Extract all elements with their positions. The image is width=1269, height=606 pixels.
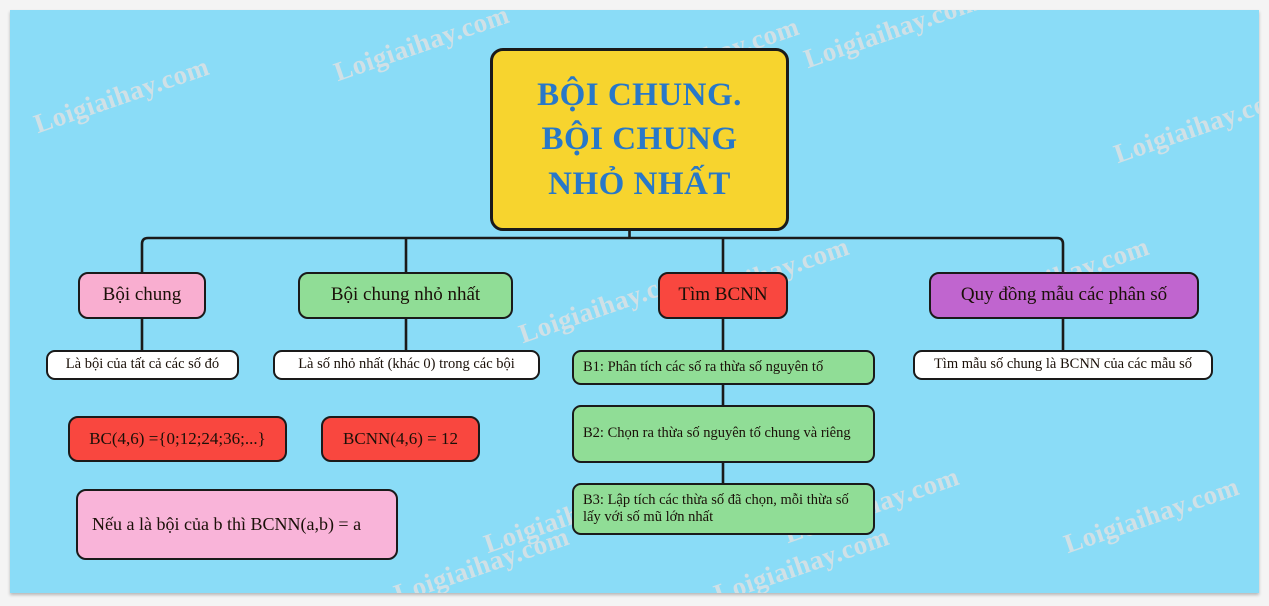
leaf-label: Là số nhỏ nhất (khác 0) trong các bội (298, 356, 515, 373)
leaf-node-tim-mau-so-chung-la-bcnn-cua-cac-mau-so[interactable]: Tìm mẫu số chung là BCNN của các mẫu số (913, 350, 1213, 380)
branch-node-tim-bcnn[interactable]: Tìm BCNN (658, 272, 788, 319)
branch-label: Bội chung nhỏ nhất (331, 284, 480, 306)
example-node-bc-4-6[interactable]: BC(4,6) ={0;12;24;36;...} (68, 416, 287, 462)
watermark-text: Loigiaihay.com (330, 10, 513, 88)
watermark-text: Loigiaihay.com (1060, 471, 1243, 560)
branch-label: Tìm BCNN (678, 284, 767, 306)
root-title-line-3: NHỎ NHẤT (548, 162, 731, 207)
branch-node-quy-dong-mau-cac-phan-so[interactable]: Quy đồng mẫu các phân số (929, 272, 1199, 319)
step-label: B1: Phân tích các số ra thừa số nguyên t… (583, 359, 823, 376)
leaf-label: Tìm mẫu số chung là BCNN của các mẫu số (934, 356, 1192, 373)
leaf-label: Là bội của tất cả các số đó (66, 356, 219, 373)
root-title-line-1: BỘI CHUNG. (537, 73, 742, 118)
branch-label: Quy đồng mẫu các phân số (961, 284, 1167, 306)
example-label: BC(4,6) ={0;12;24;36;...} (89, 429, 266, 449)
note-node-neu-a-la-boi-cua-b[interactable]: Nếu a là bội của b thì BCNN(a,b) = a (76, 489, 398, 560)
root-node-boi-chung-boi-chung-nho-nhat[interactable]: BỘI CHUNG. BỘI CHUNG NHỎ NHẤT (490, 48, 789, 231)
example-node-bcnn-4-6[interactable]: BCNN(4,6) = 12 (321, 416, 480, 462)
watermark-text: Loigiaihay.com (800, 10, 983, 75)
mindmap-canvas: Loigiaihay.com Loigiaihay.com Loigiaihay… (10, 10, 1259, 593)
branch-node-boi-chung[interactable]: Bội chung (78, 272, 206, 319)
step-node-b1[interactable]: B1: Phân tích các số ra thừa số nguyên t… (572, 350, 875, 385)
mindmap-screenshot: Loigiaihay.com Loigiaihay.com Loigiaihay… (0, 0, 1269, 606)
step-node-b3[interactable]: B3: Lập tích các thừa số đã chọn, mỗi th… (572, 483, 875, 535)
example-label: BCNN(4,6) = 12 (343, 429, 458, 449)
note-label: Nếu a là bội của b thì BCNN(a,b) = a (92, 514, 361, 535)
step-label: B2: Chọn ra thừa số nguyên tố chung và r… (583, 425, 851, 442)
branch-label: Bội chung (103, 284, 182, 306)
branch-node-boi-chung-nho-nhat[interactable]: Bội chung nhỏ nhất (298, 272, 513, 319)
step-label: B3: Lập tích các thừa số đã chọn, mỗi th… (583, 492, 864, 526)
watermark-text: Loigiaihay.com (1110, 81, 1259, 170)
leaf-node-la-boi-cua-tat-ca-cac-so-do[interactable]: Là bội của tất cả các số đó (46, 350, 239, 380)
watermark-text: Loigiaihay.com (30, 51, 213, 140)
leaf-node-la-so-nho-nhat-khac-0-trong-cac-boi[interactable]: Là số nhỏ nhất (khác 0) trong các bội (273, 350, 540, 380)
root-title-line-2: BỘI CHUNG (541, 117, 737, 162)
watermark-text: Loigiaihay.com (390, 521, 573, 593)
step-node-b2[interactable]: B2: Chọn ra thừa số nguyên tố chung và r… (572, 405, 875, 463)
